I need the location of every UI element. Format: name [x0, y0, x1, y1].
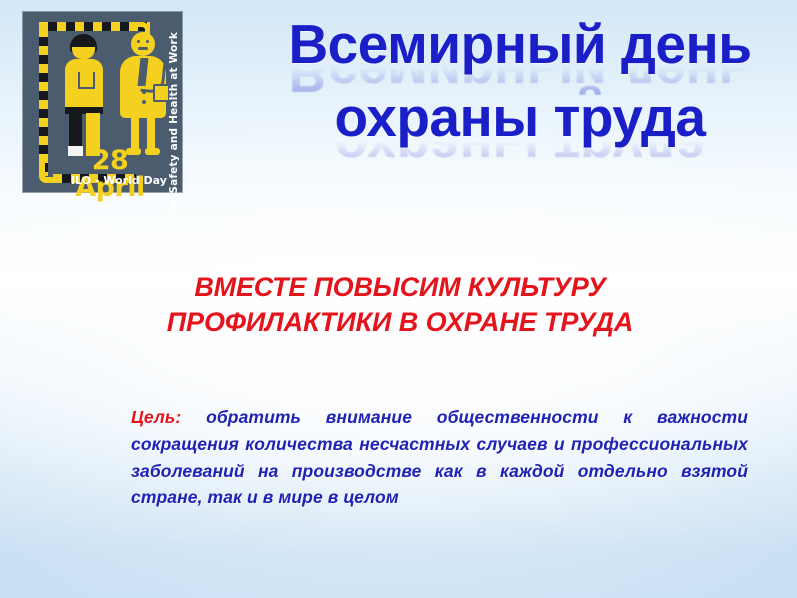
purpose-label: Цель: — [131, 407, 181, 427]
logo-side-text: for Safety and Health at Work — [168, 32, 180, 215]
worker-pocket — [78, 72, 95, 89]
slide-title: Всемирный день Всемирный день охраны тру… — [255, 18, 785, 173]
slogan-line-1: ВМЕСТЕ ПОВЫСИМ КУЛЬТУРУ — [140, 270, 660, 305]
logo-subtitle-text: ILO - World Day — [67, 175, 171, 186]
slide-slogan: ВМЕСТЕ ПОВЫСИМ КУЛЬТУРУ ПРОФИЛАКТИКИ В О… — [140, 270, 660, 339]
office-worker-figure-icon — [120, 32, 166, 158]
worker-face — [72, 47, 95, 59]
woman-mouth — [138, 47, 148, 50]
purpose-text: обратить внимание общественности к важно… — [131, 407, 748, 507]
ilo-world-day-logo: 28 April ILO - World Day for Safety and … — [23, 12, 182, 192]
woman-eye-left — [137, 40, 140, 43]
presentation-slide: 28 April ILO - World Day for Safety and … — [0, 0, 797, 598]
woman-button-lower — [142, 100, 146, 104]
woman-leg-right — [147, 118, 155, 150]
title-line-2: охраны труда охраны труда — [255, 91, 785, 172]
title-reflection-line-2: охраны труда — [255, 139, 785, 173]
logo-corner-top-left-icon — [39, 22, 48, 31]
woman-leg-left — [131, 118, 139, 150]
logo-dashed-border-left — [39, 28, 48, 176]
woman-eye-right — [146, 40, 149, 43]
woman-button-upper — [142, 90, 146, 94]
title-text-line-1: Всемирный день — [255, 18, 785, 71]
logo-inner: 28 April ILO - World Day for Safety and … — [23, 12, 182, 192]
worker-figure-icon — [63, 34, 107, 156]
title-text-line-2: охраны труда — [255, 91, 785, 144]
slogan-line-2: ПРОФИЛАКТИКИ В ОХРАНЕ ТРУДА — [140, 305, 660, 340]
woman-head — [131, 32, 155, 56]
purpose-paragraph: Цель: обратить внимание общественности к… — [131, 404, 748, 511]
